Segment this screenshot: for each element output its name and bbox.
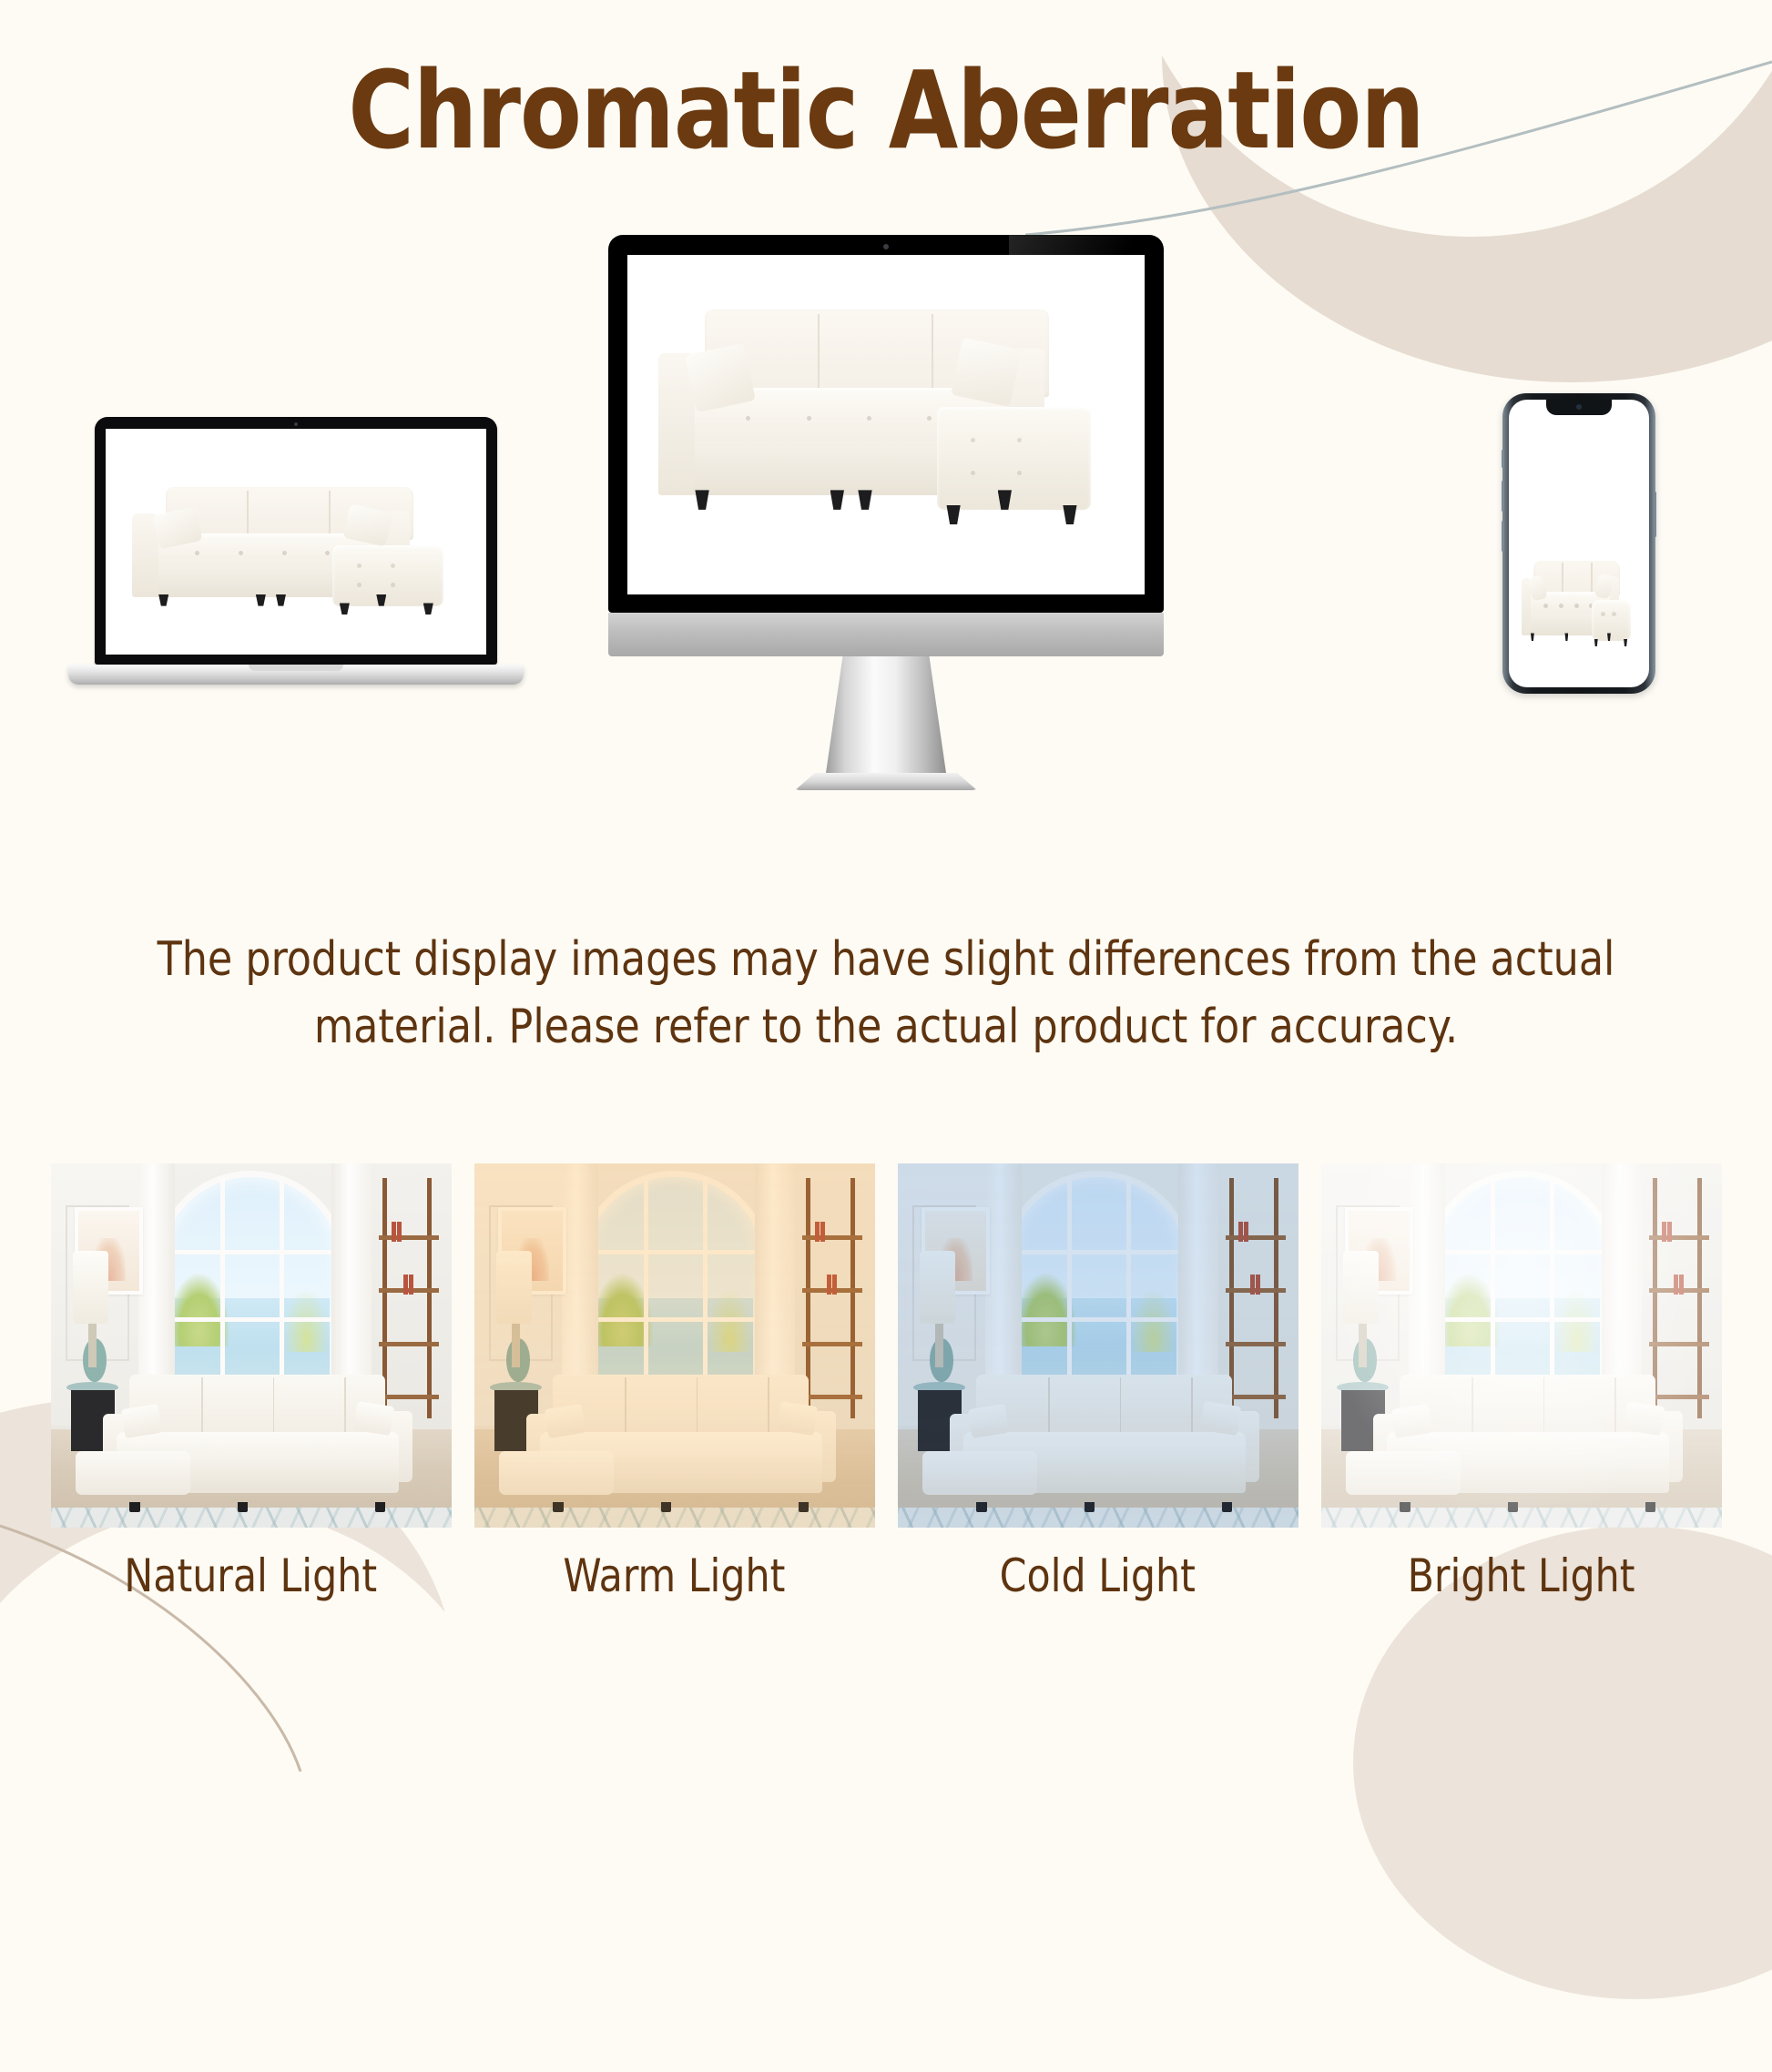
gallery-item: Bright Light	[1321, 1163, 1722, 1602]
gallery-label-warm-light: Warm Light	[474, 1549, 875, 1602]
product-sofa-image	[128, 487, 463, 632]
room-photo-cold-light	[898, 1163, 1298, 1528]
product-sofa-image	[1520, 561, 1637, 658]
phone-frame	[1502, 393, 1655, 694]
phone-power-button-icon	[1654, 492, 1656, 537]
phone-screen	[1509, 400, 1649, 687]
monitor-chin	[608, 613, 1164, 656]
room-photo-bright-light	[1321, 1163, 1722, 1528]
product-sofa-image	[653, 310, 1118, 554]
monitor-bezel	[608, 235, 1164, 613]
page-title: Chromatic Aberration	[62, 47, 1710, 173]
laptop-lid-notch	[249, 665, 343, 671]
monitor-webcam-icon	[883, 244, 889, 249]
monitor-screen	[627, 255, 1145, 594]
laptop-base	[68, 665, 524, 685]
device-mockup-row	[0, 273, 1772, 892]
gallery-item: Natural Light	[51, 1163, 452, 1602]
room-photo-natural-light	[51, 1163, 452, 1528]
laptop-lid	[95, 417, 497, 665]
desktop-monitor-mockup	[608, 235, 1164, 790]
gallery-item: Warm Light	[474, 1163, 875, 1602]
gallery-item: Cold Light	[898, 1163, 1298, 1602]
monitor-stand-base	[795, 773, 977, 790]
phone-volume-up-icon	[1502, 481, 1504, 512]
monitor-stand-neck	[826, 656, 946, 773]
phone-mute-switch-icon	[1502, 450, 1504, 468]
smartphone-mockup	[1502, 393, 1655, 694]
phone-volume-down-icon	[1502, 521, 1504, 552]
gallery-label-cold-light: Cold Light	[898, 1549, 1298, 1602]
gallery-label-bright-light: Bright Light	[1321, 1549, 1722, 1602]
laptop-mockup	[68, 417, 524, 685]
phone-notch	[1546, 400, 1612, 415]
room-photo-warm-light	[474, 1163, 875, 1528]
disclaimer-line-1: The product display images may have slig…	[117, 927, 1656, 994]
gallery-label-natural-light: Natural Light	[51, 1549, 452, 1602]
disclaimer-line-2: material. Please refer to the actual pro…	[117, 994, 1656, 1061]
laptop-screen	[106, 429, 486, 655]
laptop-webcam-icon	[294, 422, 298, 426]
disclaimer-text: The product display images may have slig…	[76, 927, 1696, 1061]
lighting-comparison-gallery: Natural Light	[0, 1163, 1772, 1602]
